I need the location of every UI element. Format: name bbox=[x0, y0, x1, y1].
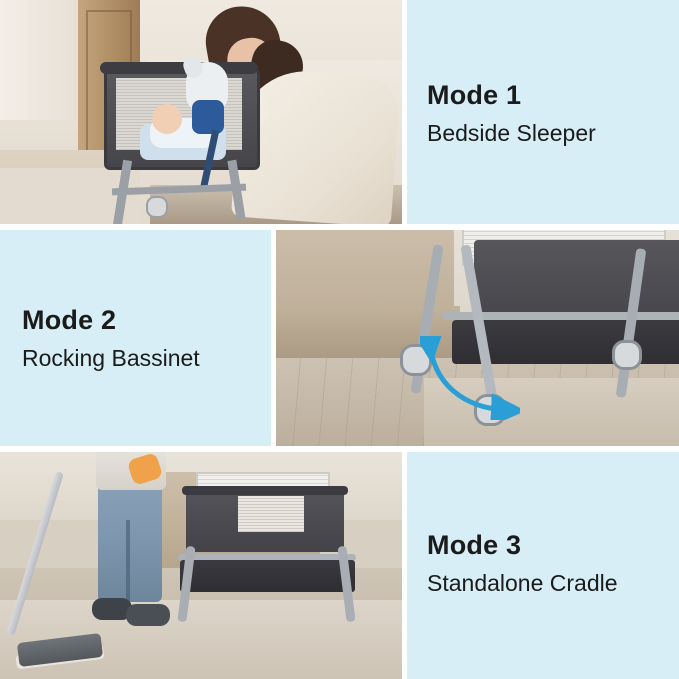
rug bbox=[0, 168, 160, 228]
mode3-word: Mode bbox=[427, 530, 498, 560]
caster-wheel-right bbox=[612, 340, 642, 370]
mode2-subtitle: Rocking Bassinet bbox=[22, 345, 274, 373]
divider-mode2 bbox=[271, 228, 276, 450]
bassinet-rail bbox=[100, 62, 258, 74]
divider-row1-row2 bbox=[0, 224, 679, 230]
height-adjust-knob bbox=[146, 196, 168, 218]
caption-mode3: Mode 3 Standalone Cradle bbox=[405, 450, 679, 679]
product-feature-collage: Mode 1 Bedside Sleeper Mode 2 Rocking Ba… bbox=[0, 0, 679, 679]
divider-row2-row3 bbox=[0, 446, 679, 452]
bassinet-storage-basket bbox=[180, 560, 355, 592]
mode3-subtitle: Standalone Cradle bbox=[427, 570, 679, 598]
divider-mode1 bbox=[402, 0, 407, 228]
mode1-word: Mode bbox=[427, 80, 498, 110]
photo-mode3-standalone-cradle bbox=[0, 450, 405, 679]
photo-mode1-bedside-sleeper bbox=[0, 0, 405, 228]
caption-mode1: Mode 1 Bedside Sleeper bbox=[405, 0, 679, 228]
bassinet-rail bbox=[182, 486, 348, 495]
mode1-number: 1 bbox=[506, 80, 521, 110]
person-shoe-right bbox=[126, 604, 170, 626]
divider-mode3 bbox=[402, 450, 407, 679]
mode2-number: 2 bbox=[101, 305, 116, 335]
mode3-title: Mode 3 bbox=[427, 531, 679, 561]
mode1-title: Mode 1 bbox=[427, 81, 679, 111]
mode2-word: Mode bbox=[22, 305, 93, 335]
plush-toy-blue-body bbox=[192, 100, 224, 134]
person-jeans-seam bbox=[126, 520, 130, 604]
rocking-motion-arrow-icon bbox=[420, 336, 520, 420]
wall-panel bbox=[0, 0, 80, 120]
baby-head bbox=[152, 104, 182, 134]
mode2-title: Mode 2 bbox=[22, 306, 274, 336]
bassinet-mesh-side-window bbox=[238, 496, 304, 532]
caption-mode2: Mode 2 Rocking Bassinet bbox=[0, 228, 274, 450]
mode1-subtitle: Bedside Sleeper bbox=[427, 120, 679, 148]
mode3-number: 3 bbox=[506, 530, 521, 560]
photo-mode2-rocking-bassinet bbox=[274, 228, 679, 450]
